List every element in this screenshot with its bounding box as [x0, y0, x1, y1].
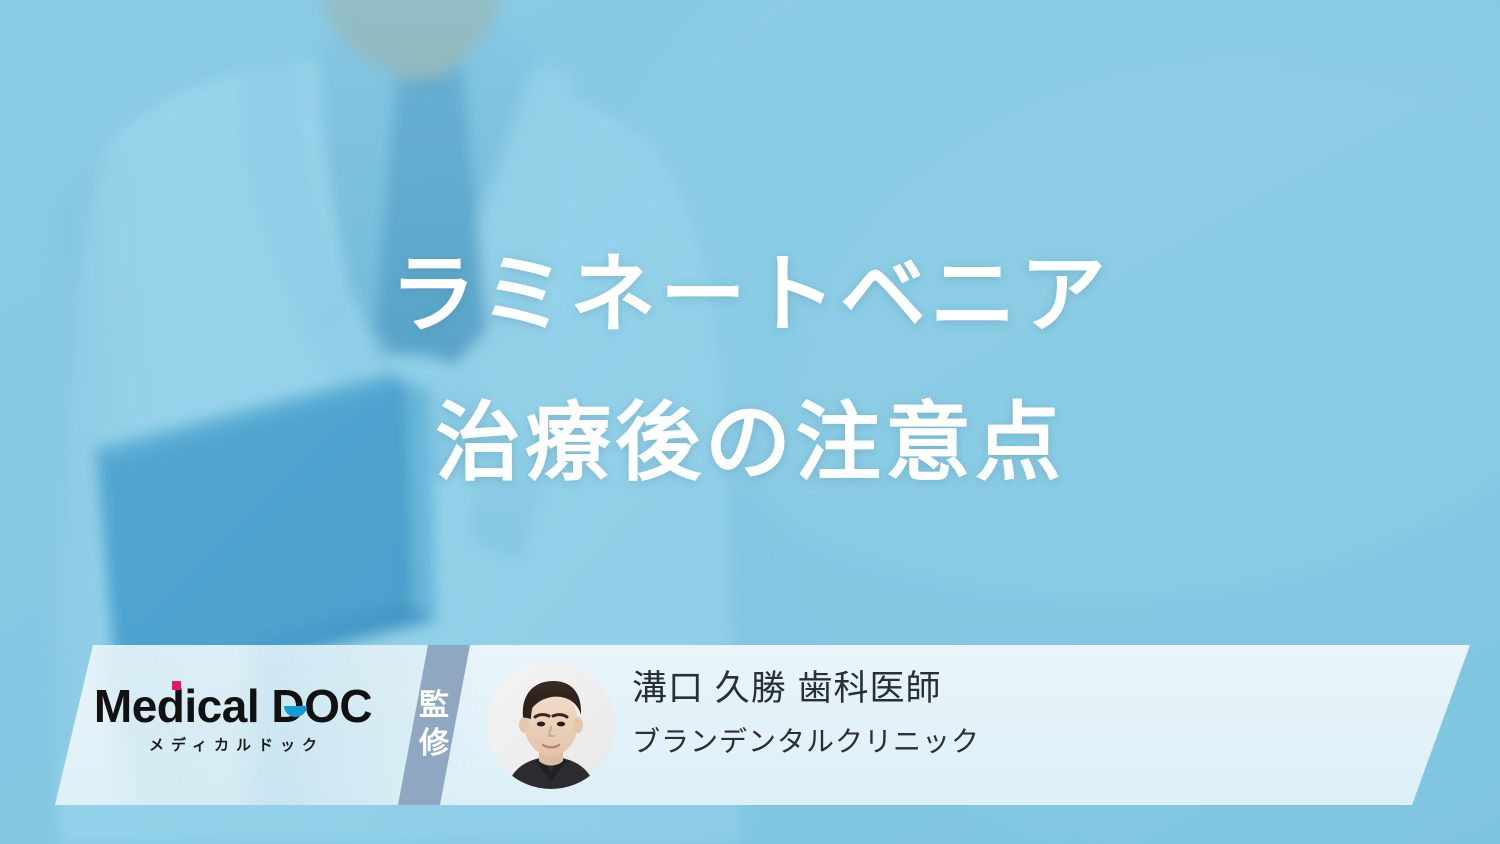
doctor-clinic: ブランデンタルクリニック — [632, 728, 980, 756]
thumbnail-canvas: ラミネートベニア 治療後の注意点 Medical DOC メディカルドック 監 … — [0, 0, 1500, 844]
logo-subtitle: メディカルドック — [88, 738, 378, 753]
supervision-label: 監 修 — [402, 665, 466, 785]
logo-pink-dot-icon — [172, 681, 181, 690]
headline: ラミネートベニア 治療後の注意点 — [0, 252, 1500, 486]
medical-doc-logo[interactable]: Medical DOC メディカルドック — [88, 683, 378, 753]
avatar — [487, 661, 615, 789]
headline-line-2: 治療後の注意点 — [0, 400, 1500, 486]
credit-bar: Medical DOC メディカルドック 監 修 — [0, 645, 1500, 805]
supervision-char-2: 修 — [419, 729, 449, 759]
supervision-char-1: 監 — [419, 691, 449, 721]
doctor-name: 溝口 久勝 歯科医師 — [632, 671, 980, 706]
logo-wordmark: Medical DOC — [94, 683, 372, 729]
doctor-credit: 溝口 久勝 歯科医師 ブランデンタルクリニック — [632, 671, 980, 756]
headline-line-1: ラミネートベニア — [0, 252, 1500, 338]
